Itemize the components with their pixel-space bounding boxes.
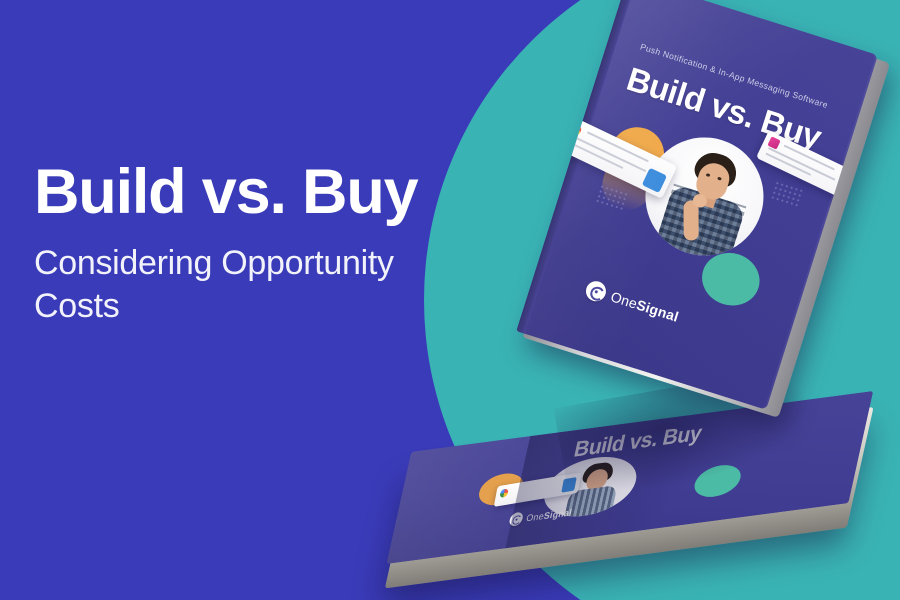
onesignal-bell-icon xyxy=(583,279,608,304)
book-brand-name: OneSignal xyxy=(609,288,681,324)
page-title: Build vs. Buy xyxy=(34,160,504,226)
chrome-browser-icon xyxy=(499,488,509,498)
hero-text-block: Build vs. Buy Considering Opportunity Co… xyxy=(34,160,504,329)
book-brand-logo: OneSignal xyxy=(583,279,681,327)
dot-pattern-right xyxy=(770,180,805,208)
promo-banner: Build vs. Buy Considering Opportunity Co… xyxy=(0,0,900,600)
page-subtitle: Considering Opportunity Costs xyxy=(34,242,474,329)
